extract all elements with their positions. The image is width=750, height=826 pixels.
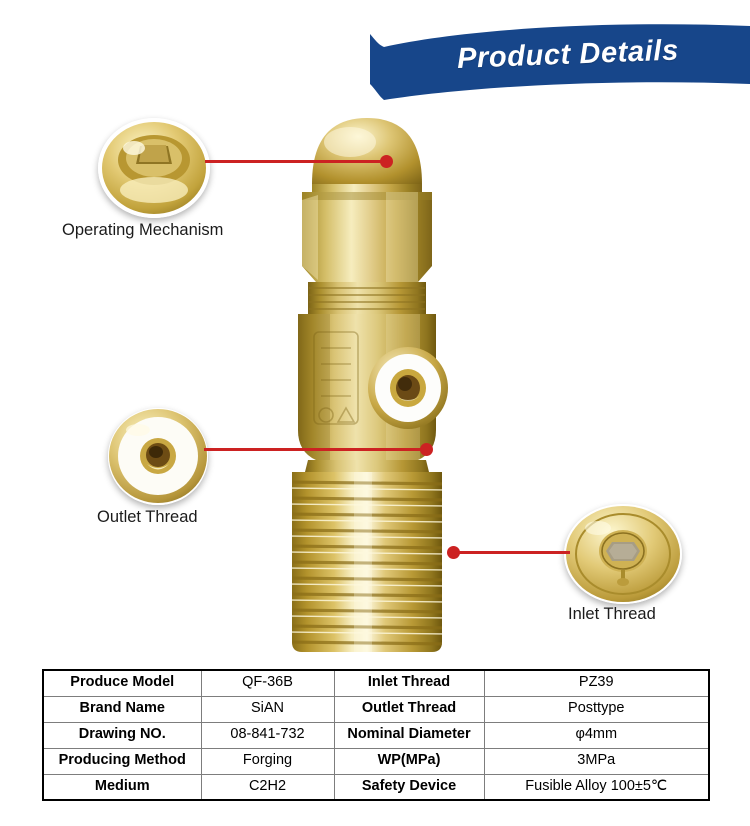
spec-key: Drawing NO. bbox=[43, 722, 201, 748]
brass-dome-hex-socket-icon bbox=[98, 118, 210, 218]
banner-title: Product Details bbox=[368, 7, 750, 108]
table-row: Brand Name SiAN Outlet Thread Posttype bbox=[43, 696, 709, 722]
spec-key: Outlet Thread bbox=[334, 696, 484, 722]
product-details-page: Product Details bbox=[0, 0, 750, 826]
table-row: Produce Model QF-36B Inlet Thread PZ39 bbox=[43, 670, 709, 696]
spec-key: WP(MPa) bbox=[334, 748, 484, 774]
brass-ring-white-seal-icon bbox=[108, 408, 208, 505]
leader-dot-inlet-thread bbox=[447, 546, 460, 559]
outlet-thread-inset bbox=[108, 408, 208, 505]
leader-line-inlet-thread bbox=[452, 551, 570, 554]
spec-value: SiAN bbox=[201, 696, 334, 722]
valve-illustration bbox=[268, 100, 500, 660]
table-row: Producing Method Forging WP(MPa) 3MPa bbox=[43, 748, 709, 774]
spec-value: C2H2 bbox=[201, 774, 334, 800]
brass-disc-hex-center-icon bbox=[564, 504, 682, 604]
inlet-thread-inset bbox=[564, 504, 682, 604]
leader-dot-operating-mechanism bbox=[380, 155, 393, 168]
spec-value: QF-36B bbox=[201, 670, 334, 696]
product-details-banner: Product Details bbox=[370, 14, 750, 100]
spec-value: 3MPa bbox=[484, 748, 709, 774]
table-row: Drawing NO. 08-841-732 Nominal Diameter … bbox=[43, 722, 709, 748]
spec-value: Fusible Alloy 100±5℃ bbox=[484, 774, 709, 800]
spec-value: PZ39 bbox=[484, 670, 709, 696]
callout-label-operating-mechanism: Operating Mechanism bbox=[62, 221, 223, 240]
leader-line-outlet-thread bbox=[204, 448, 424, 451]
spec-key: Medium bbox=[43, 774, 201, 800]
spec-key: Producing Method bbox=[43, 748, 201, 774]
leader-dot-outlet-thread bbox=[420, 443, 433, 456]
leader-line-operating-mechanism bbox=[205, 160, 385, 163]
spec-key: Produce Model bbox=[43, 670, 201, 696]
callout-label-inlet-thread: Inlet Thread bbox=[568, 605, 656, 624]
spec-value: 08-841-732 bbox=[201, 722, 334, 748]
table-row: Medium C2H2 Safety Device Fusible Alloy … bbox=[43, 774, 709, 800]
spec-key: Nominal Diameter bbox=[334, 722, 484, 748]
spec-value: φ4mm bbox=[484, 722, 709, 748]
specification-table: Produce Model QF-36B Inlet Thread PZ39 B… bbox=[42, 669, 710, 801]
spec-key: Inlet Thread bbox=[334, 670, 484, 696]
spec-value: Posttype bbox=[484, 696, 709, 722]
product-image-valve bbox=[268, 100, 500, 660]
spec-key: Brand Name bbox=[43, 696, 201, 722]
operating-mechanism-inset bbox=[98, 118, 210, 218]
spec-key: Safety Device bbox=[334, 774, 484, 800]
spec-value: Forging bbox=[201, 748, 334, 774]
callout-label-outlet-thread: Outlet Thread bbox=[97, 508, 198, 527]
